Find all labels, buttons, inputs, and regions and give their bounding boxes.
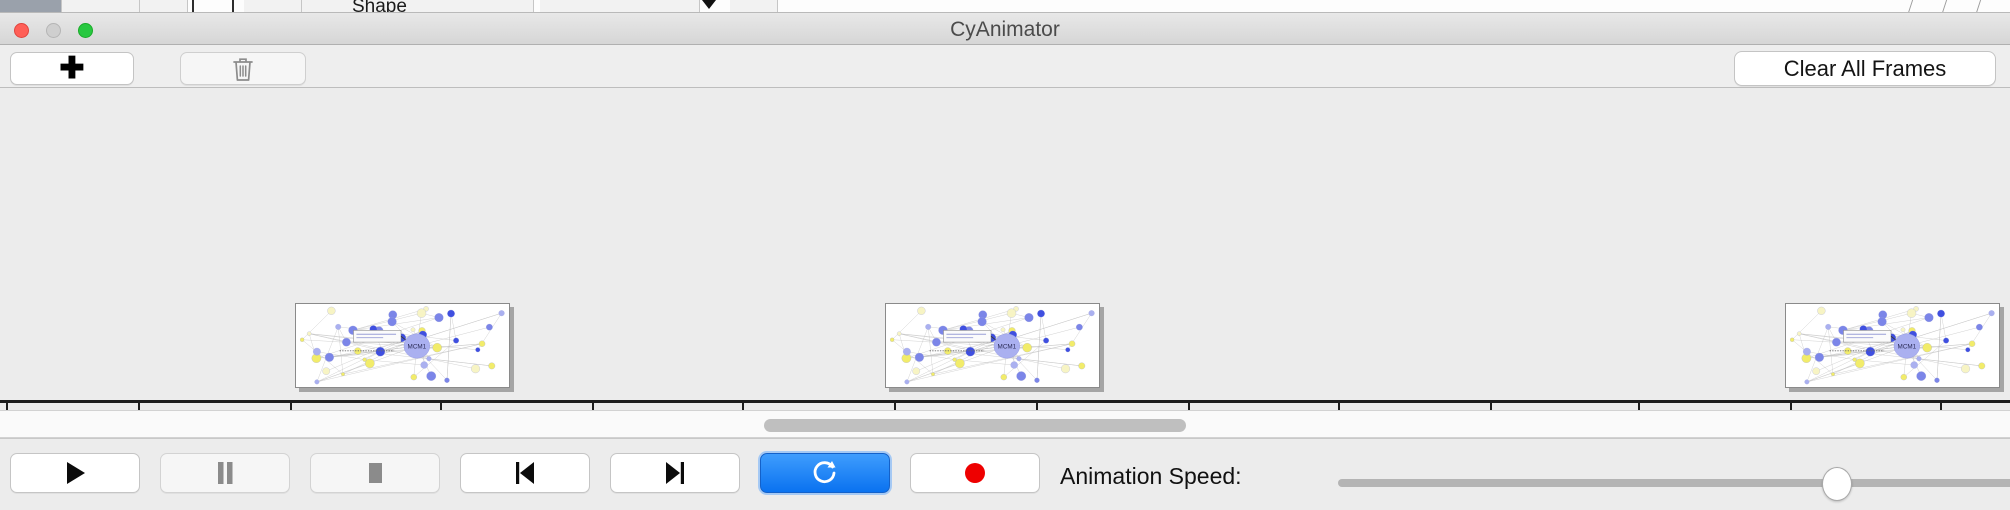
play-icon xyxy=(62,459,88,487)
ruler-tick xyxy=(894,403,896,410)
animation-speed-label: Animation Speed: xyxy=(1060,463,1242,490)
background-window-strip: Shape xyxy=(0,0,2010,13)
title-bar: CyAnimator xyxy=(0,13,2010,45)
delete-frame-button[interactable] xyxy=(180,52,306,85)
bg-tab xyxy=(302,0,534,13)
window-title: CyAnimator xyxy=(0,18,2010,42)
ruler-tick xyxy=(1790,403,1792,410)
loop-button[interactable] xyxy=(760,453,890,493)
record-icon xyxy=(962,460,988,486)
bg-slash xyxy=(1908,0,1913,13)
bg-tab xyxy=(540,0,700,13)
svg-text:MCM1: MCM1 xyxy=(408,344,427,351)
svg-text:MCM1: MCM1 xyxy=(998,344,1017,351)
bg-tab xyxy=(730,0,778,13)
svg-text:MCM1: MCM1 xyxy=(1898,344,1917,351)
keyframe-thumbnail[interactable]: MCM1 xyxy=(1785,303,2000,388)
bg-divider xyxy=(232,0,234,13)
loop-icon xyxy=(811,458,839,488)
keyframe-thumbnail[interactable]: MCM1 xyxy=(295,303,510,388)
transport-bar: Animation Speed: xyxy=(0,438,2010,510)
ruler-tick xyxy=(1188,403,1190,410)
timeline-track[interactable] xyxy=(0,88,2010,308)
bg-tab xyxy=(244,0,302,13)
stop-icon xyxy=(363,459,387,487)
scrollbar-thumb[interactable] xyxy=(764,419,1186,432)
cyanimator-window: Shape CyAnimator ✚ Clear All Frames xyxy=(0,0,2010,510)
ruler-tick xyxy=(1940,403,1942,410)
ruler-tick xyxy=(1338,403,1340,410)
pause-button[interactable] xyxy=(160,453,290,493)
bg-tab xyxy=(62,0,140,13)
skip-fwd-icon xyxy=(662,459,688,487)
bg-tab xyxy=(140,0,188,13)
animation-speed-slider-thumb[interactable] xyxy=(1822,467,1852,501)
horizontal-scrollbar[interactable] xyxy=(0,410,2010,438)
bg-divider xyxy=(192,0,194,13)
ruler-tick xyxy=(1036,403,1038,410)
clear-all-frames-label: Clear All Frames xyxy=(1784,56,1947,82)
ruler-tick xyxy=(742,403,744,410)
bg-slash xyxy=(1976,0,1981,13)
play-button[interactable] xyxy=(10,453,140,493)
clear-all-frames-button[interactable]: Clear All Frames xyxy=(1734,51,1996,86)
animation-speed-slider[interactable] xyxy=(1338,479,2010,487)
ruler-tick xyxy=(6,403,8,410)
add-frame-button[interactable]: ✚ xyxy=(10,52,134,85)
previous-button[interactable] xyxy=(460,453,590,493)
timeline-panel[interactable]: MCM1 MCM1 MCM1 2131415161718 Seconds xyxy=(0,88,2010,410)
timeline-ruler xyxy=(0,400,2010,403)
ruler-tick xyxy=(138,403,140,410)
keyframe-thumbnail[interactable]: MCM1 xyxy=(885,303,1100,388)
bg-tab-selected xyxy=(0,0,62,13)
plus-icon: ✚ xyxy=(59,54,84,84)
ruler-tick xyxy=(1638,403,1640,410)
ruler-tick xyxy=(592,403,594,410)
ruler-tick xyxy=(290,403,292,410)
ruler-tick xyxy=(440,403,442,410)
toolbar: ✚ Clear All Frames xyxy=(0,45,2010,88)
ruler-tick xyxy=(1490,403,1492,410)
bg-slash xyxy=(1942,0,1947,13)
next-button[interactable] xyxy=(610,453,740,493)
stop-button[interactable] xyxy=(310,453,440,493)
pause-icon xyxy=(213,459,237,487)
bg-window-label: Shape xyxy=(352,0,407,13)
trash-icon xyxy=(232,56,254,82)
bg-marker-icon xyxy=(702,0,716,9)
skip-back-icon xyxy=(512,459,538,487)
record-button[interactable] xyxy=(910,453,1040,493)
